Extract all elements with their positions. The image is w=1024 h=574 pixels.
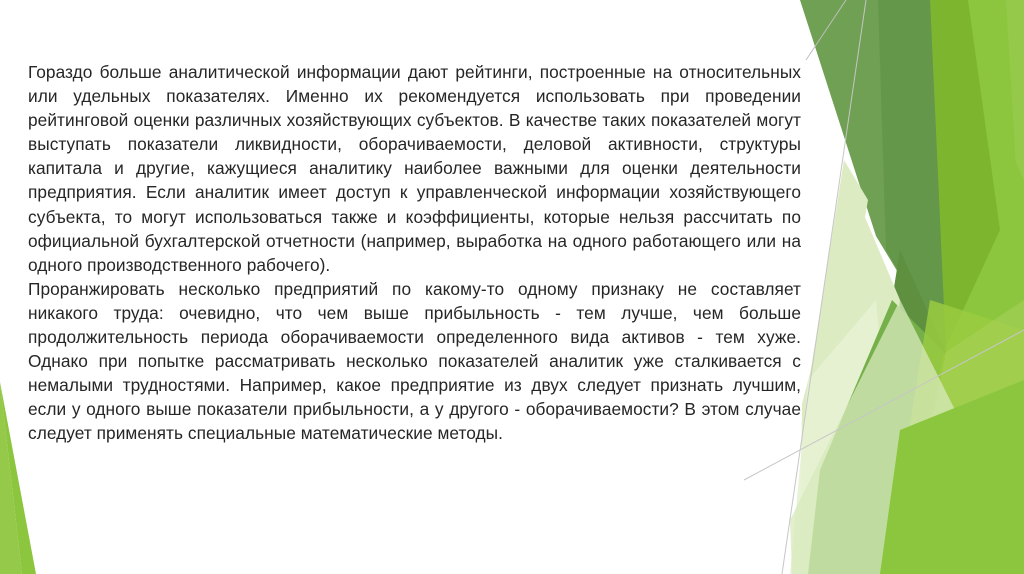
facet-pale-fan — [800, 196, 900, 574]
facet-right-edge-light — [996, 0, 1024, 180]
facet-olive-upper — [910, 0, 1000, 360]
facet-lower-midgreen — [808, 300, 944, 574]
facet-right-bright — [900, 0, 1024, 574]
facet-dark-nib — [892, 250, 946, 380]
facet-light-overlay — [902, 300, 1024, 574]
slide-canvas: Гораздо больше аналитической информации … — [0, 0, 1024, 574]
paragraph-1: Гораздо больше аналитической информации … — [28, 60, 801, 277]
facet-bottom-bright — [880, 380, 1024, 574]
facet-wash — [790, 300, 900, 574]
facet-bright-band — [880, 0, 1024, 574]
paragraph-2: Проранжировать несколько предприятий по … — [28, 277, 801, 446]
facet-bottom-left-wedge — [0, 382, 22, 574]
slide-body-text: Гораздо больше аналитической информации … — [28, 60, 801, 446]
hairline-upper — [806, 0, 846, 60]
facet-dark-triangle — [800, 0, 946, 352]
facet-pale-diagonal — [790, 300, 960, 574]
facet-pale-sliver — [806, 160, 868, 420]
facet-dark-inner — [878, 0, 946, 352]
facet-lime-overlay — [886, 300, 1024, 574]
